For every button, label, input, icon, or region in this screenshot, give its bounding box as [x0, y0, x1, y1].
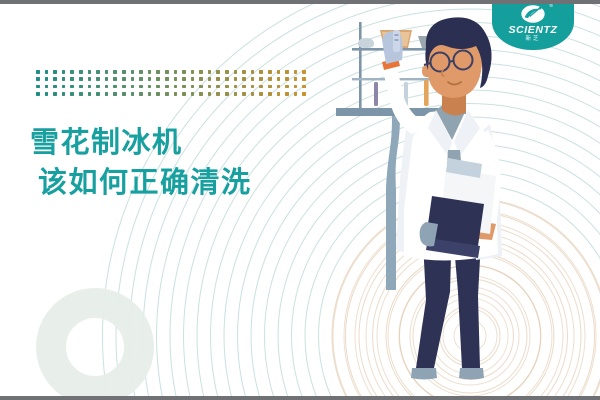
dot-grid-cell — [208, 77, 212, 81]
dot-grid-cell — [242, 70, 246, 74]
dot-grid-cell — [139, 92, 143, 96]
dot-grid-cell — [285, 85, 289, 89]
logo-wordmark: SCIENTZ — [508, 25, 557, 36]
dot-grid-cell — [251, 70, 255, 74]
dot-grid-cell — [174, 70, 178, 74]
headline-line-2: 该如何正确清洗 — [30, 162, 252, 202]
headline-line-1: 雪花制冰机 — [30, 122, 252, 162]
dot-grid-cell — [251, 77, 255, 81]
dot-grid-cell — [182, 85, 186, 89]
dot-grid-cell — [277, 70, 281, 74]
dot-grid-cell — [113, 85, 117, 89]
dot-grid-cell — [45, 92, 49, 96]
table-post-left — [359, 22, 362, 110]
swirl-emblem-icon: ® — [520, 4, 546, 24]
dot-grid-cell — [62, 92, 66, 96]
dot-grid-cell — [216, 77, 220, 81]
dot-grid-cell — [131, 85, 135, 89]
test-tube-1 — [374, 82, 378, 106]
dot-grid-cell — [53, 92, 57, 96]
ring-donut-decoration — [36, 288, 154, 400]
shoe-right — [459, 368, 484, 380]
dot-grid-cell — [225, 70, 229, 74]
dot-grid-cell — [113, 70, 117, 74]
dot-grid-cell — [191, 77, 195, 81]
dot-grid-cell — [285, 70, 289, 74]
dot-grid-cell — [199, 92, 203, 96]
dot-grid-cell — [294, 77, 298, 81]
dot-grid-cell — [251, 92, 255, 96]
dot-grid-cell — [36, 77, 40, 81]
dot-grid-cell — [148, 85, 152, 89]
dot-grid-cell — [96, 92, 100, 96]
arm-raised — [382, 62, 426, 134]
dot-grid-cell — [88, 70, 92, 74]
dot-grid-cell — [70, 77, 74, 81]
dot-grid-cell — [216, 85, 220, 89]
dot-grid-cell — [294, 92, 298, 96]
dot-grid-cell — [156, 85, 160, 89]
dot-grid-cell — [62, 85, 66, 89]
dot-grid-cell — [36, 85, 40, 89]
dot-grid-cell — [70, 92, 74, 96]
dot-grid-cell — [53, 85, 57, 89]
dot-grid-cell — [165, 77, 169, 81]
dot-grid-cell — [105, 92, 109, 96]
dot-grid-cell — [174, 85, 178, 89]
vial-mark-2 — [395, 39, 399, 41]
dot-grid-cell — [199, 85, 203, 89]
dot-grid-cell — [113, 77, 117, 81]
dot-grid-cell — [165, 92, 169, 96]
dot-grid-cell — [79, 85, 83, 89]
dot-grid-cell — [79, 92, 83, 96]
dot-grid-cell — [174, 92, 178, 96]
dot-grid-cell — [148, 77, 152, 81]
dot-grid-cell — [182, 77, 186, 81]
dot-grid-cell — [259, 70, 263, 74]
dot-grid-cell — [259, 85, 263, 89]
dot-grid-cell — [70, 70, 74, 74]
dot-grid-cell — [285, 92, 289, 96]
dot-grid-cell — [199, 77, 203, 81]
dot-grid-cell — [182, 92, 186, 96]
dot-grid-decoration — [36, 70, 311, 100]
headline-block: 雪花制冰机 该如何正确清洗 — [30, 122, 252, 202]
dot-grid-cell — [70, 85, 74, 89]
dot-grid-cell — [88, 92, 92, 96]
dot-grid-cell — [79, 70, 83, 74]
dot-grid-cell — [156, 77, 160, 81]
dot-grid-cell — [242, 77, 246, 81]
dot-grid-cell — [96, 77, 100, 81]
dot-grid-cell — [208, 85, 212, 89]
dot-grid-cell — [242, 85, 246, 89]
dot-grid-cell — [174, 77, 178, 81]
dot-grid-cell — [105, 77, 109, 81]
dot-grid-cell — [234, 77, 238, 81]
dot-grid-cell — [277, 92, 281, 96]
dot-grid-cell — [191, 70, 195, 74]
dot-grid-cell — [208, 92, 212, 96]
dot-grid-cell — [122, 85, 126, 89]
dot-grid-cell — [251, 85, 255, 89]
dot-grid-cell — [122, 77, 126, 81]
dot-grid-cell — [105, 85, 109, 89]
dot-grid-cell — [285, 77, 289, 81]
dot-grid-cell — [225, 85, 229, 89]
dot-grid-cell — [208, 70, 212, 74]
dot-grid-cell — [294, 85, 298, 89]
dot-grid-cell — [216, 92, 220, 96]
dot-grid-cell — [234, 70, 238, 74]
top-border — [0, 0, 600, 4]
dot-grid-cell — [277, 85, 281, 89]
dot-grid-cell — [53, 70, 57, 74]
dot-grid-cell — [268, 85, 272, 89]
bowl-icon — [358, 38, 374, 48]
dot-grid-cell — [225, 92, 229, 96]
dot-grid-cell — [122, 92, 126, 96]
dot-grid-cell — [122, 70, 126, 74]
dot-grid-cell — [62, 77, 66, 81]
table-leg — [386, 116, 400, 290]
poster-canvas: 雪花制冰机 该如何正确清洗 — [0, 0, 600, 400]
dot-grid-cell — [156, 70, 160, 74]
dot-grid-cell — [45, 77, 49, 81]
dot-grid-cell — [216, 70, 220, 74]
dot-grid-cell — [96, 85, 100, 89]
dot-grid-cell — [139, 77, 143, 81]
dot-grid-cell — [45, 70, 49, 74]
scientist-figure — [382, 17, 502, 379]
dot-grid-cell — [79, 77, 83, 81]
dot-grid-cell — [199, 70, 203, 74]
dot-grid-cell — [148, 70, 152, 74]
dot-grid-cell — [45, 85, 49, 89]
dot-grid-cell — [165, 85, 169, 89]
dot-grid-cell — [156, 92, 160, 96]
dot-grid-cell — [225, 77, 229, 81]
dot-grid-cell — [113, 92, 117, 96]
dot-grid-cell — [242, 92, 246, 96]
dot-grid-cell — [148, 92, 152, 96]
dot-grid-cell — [234, 92, 238, 96]
dot-grid-cell — [139, 85, 143, 89]
dot-grid-cell — [36, 70, 40, 74]
dot-grid-cell — [139, 70, 143, 74]
dot-grid-cell — [191, 85, 195, 89]
dot-grid-cell — [105, 70, 109, 74]
dot-grid-cell — [88, 77, 92, 81]
dot-grid-cell — [268, 92, 272, 96]
dot-grid-cell — [268, 70, 272, 74]
logo-chinese-mark: 新芝 — [525, 36, 540, 43]
dot-grid-cell — [88, 85, 92, 89]
dot-grid-cell — [259, 77, 263, 81]
dot-grid-cell — [182, 70, 186, 74]
scientist-illustration — [300, 0, 600, 400]
dot-grid-cell — [165, 70, 169, 74]
dot-grid-cell — [259, 92, 263, 96]
dot-grid-cell — [277, 77, 281, 81]
dot-grid-cell — [62, 70, 66, 74]
test-tube-4 — [424, 80, 429, 106]
dot-grid-cell — [191, 92, 195, 96]
dot-grid-cell — [36, 92, 40, 96]
dot-grid-cell — [131, 92, 135, 96]
dot-grid-cell — [268, 77, 272, 81]
vial-mark-1 — [395, 34, 399, 36]
dot-grid-cell — [53, 77, 57, 81]
dot-grid-cell — [131, 77, 135, 81]
dot-grid-cell — [294, 70, 298, 74]
shoe-left — [411, 368, 437, 380]
dot-grid-cell — [234, 85, 238, 89]
dot-grid-cell — [131, 70, 135, 74]
dot-grid-cell — [96, 70, 100, 74]
bottom-border — [0, 396, 600, 400]
glasses-bridge — [450, 61, 454, 62]
